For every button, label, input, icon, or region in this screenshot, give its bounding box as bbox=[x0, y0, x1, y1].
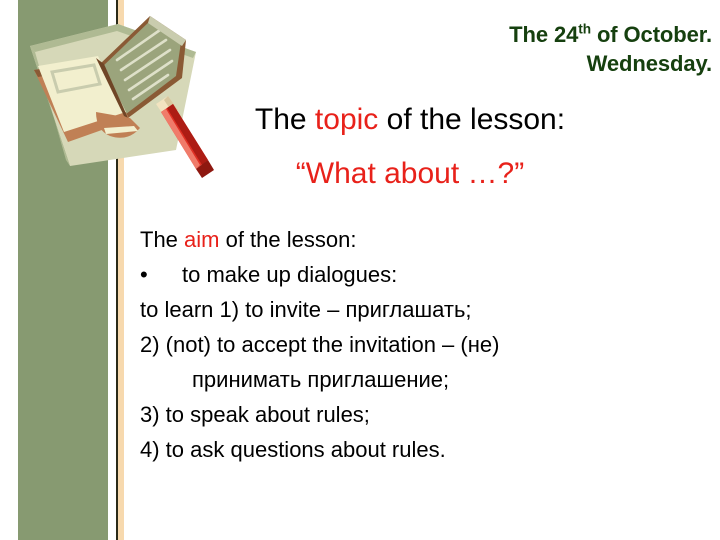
date-heading: The 24th of October. Wednesday. bbox=[300, 20, 712, 78]
aim-item-4: 4) to ask questions about rules. bbox=[140, 432, 660, 467]
topic-heading: The topic of the lesson: “What about …?” bbox=[140, 100, 680, 194]
aim-item-3: 3) to speak about rules; bbox=[140, 397, 660, 432]
aim-bullet-text: to make up dialogues: bbox=[182, 262, 397, 287]
date-line-2: Wednesday. bbox=[587, 51, 712, 76]
topic-quote: “What about …?” bbox=[140, 154, 680, 194]
slide-canvas: The 24th of October. Wednesday. The topi… bbox=[0, 0, 720, 540]
aim-bullet-item: •to make up dialogues: bbox=[140, 257, 660, 292]
aim-item-2-line-1: 2) (not) to accept the invitation – (не) bbox=[140, 327, 660, 362]
aim-keyword: aim bbox=[184, 227, 219, 252]
topic-line-1: The topic of the lesson: bbox=[255, 103, 565, 136]
topic-prefix: The bbox=[255, 103, 315, 136]
aim-item-2-line-2: принимать приглашение; bbox=[140, 362, 660, 397]
aim-prefix: The bbox=[140, 227, 184, 252]
topic-suffix: of the lesson: bbox=[378, 103, 565, 136]
date-line-1: The 24th of October. bbox=[509, 22, 712, 47]
aim-item-1: to learn 1) to invite – приглашать; bbox=[140, 292, 660, 327]
bullet-dot-icon: • bbox=[140, 257, 182, 292]
aim-heading: The aim of the lesson: bbox=[140, 222, 660, 257]
date-ordinal-suffix: th bbox=[578, 22, 591, 37]
date-suffix: of October. bbox=[591, 22, 712, 47]
lesson-aims-body: The aim of the lesson: •to make up dialo… bbox=[140, 222, 660, 467]
date-prefix: The 24 bbox=[509, 22, 578, 47]
aim-suffix: of the lesson: bbox=[219, 227, 356, 252]
topic-keyword: topic bbox=[315, 103, 378, 136]
